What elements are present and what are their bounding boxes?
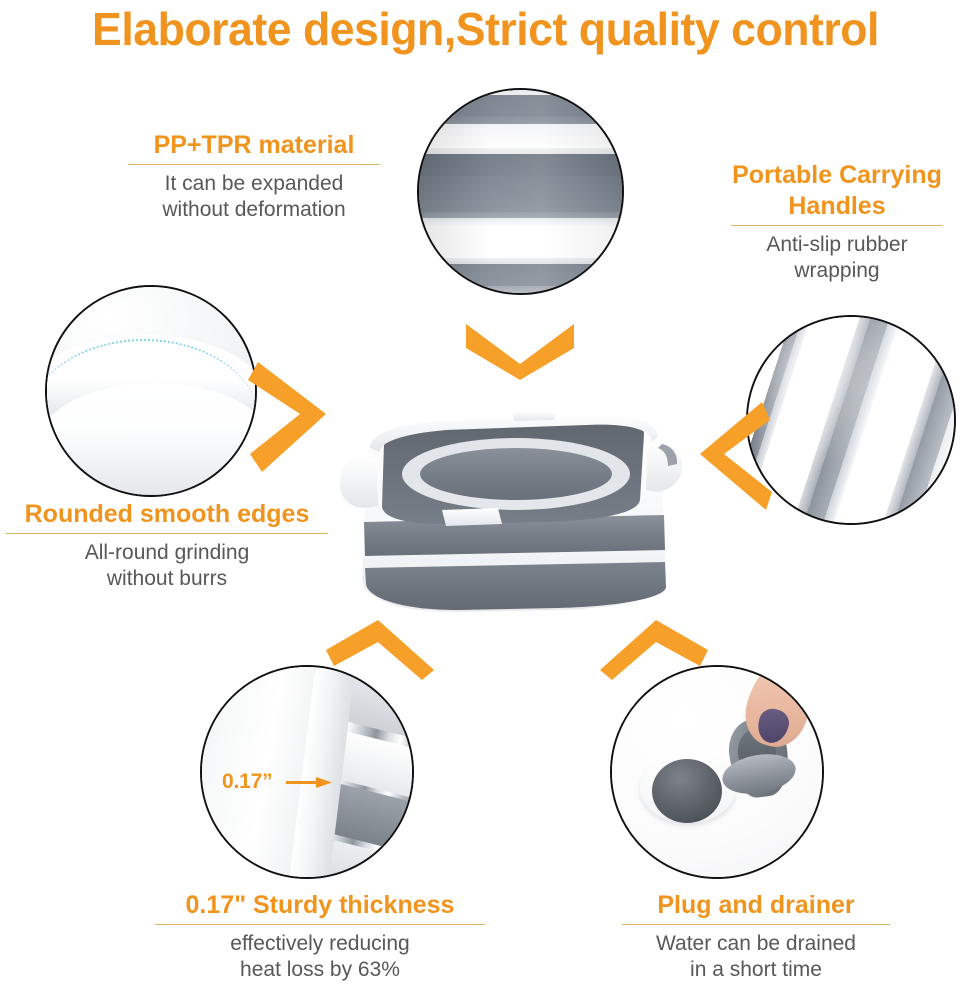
photo-material-closeup: [417, 88, 624, 295]
chevron-right-icon: [248, 358, 332, 476]
feature-handles-title: Portable Carrying Handles: [706, 160, 968, 222]
chevron-left-icon: [694, 400, 772, 512]
feature-edges-title: Rounded smooth edges: [2, 499, 332, 530]
feature-edges: Rounded smooth edges All-round grinding …: [2, 499, 332, 592]
feature-handles-subtitle: Anti-slip rubber wrapping: [706, 232, 968, 284]
feature-plug-rule: [622, 924, 890, 925]
feature-plug: Plug and drainer Water can be drained in…: [606, 890, 906, 983]
product-image-collapsible-basket: [330, 382, 698, 622]
corner-cross-section-image: 0.17”: [202, 667, 412, 877]
striped-basket-wall-image: [419, 90, 622, 293]
thickness-arrow-icon: [286, 777, 332, 788]
feature-material: PP+TPR material It can be expanded witho…: [118, 130, 390, 223]
handle-left: [340, 456, 378, 508]
feature-material-rule: [128, 164, 380, 165]
feature-thickness-rule: [155, 924, 485, 925]
feature-thickness-title: 0.17" Sturdy thickness: [150, 890, 490, 921]
feature-plug-title: Plug and drainer: [606, 890, 906, 921]
basket-inner-floor-center: [420, 448, 612, 500]
feature-handles-rule: [731, 225, 943, 226]
chevron-up-icon-thickness: [322, 614, 438, 680]
feature-material-title: PP+TPR material: [118, 130, 390, 161]
basket-back-tab: [512, 411, 556, 421]
photo-rounded-edge-closeup: [45, 285, 257, 497]
basket-band-lower: [365, 562, 666, 610]
chevron-up-icon-plug: [596, 614, 712, 680]
drain-hole: [652, 759, 722, 823]
photo-plug-closeup: [610, 665, 824, 879]
feature-edges-subtitle: All-round grinding without burrs: [2, 540, 332, 592]
handle-grip-image: [748, 317, 954, 523]
photo-handle-closeup: [746, 315, 956, 525]
infographic-canvas: Elaborate design,Strict quality control …: [0, 0, 971, 989]
chevron-down-icon: [462, 318, 578, 380]
feature-edges-rule: [6, 533, 328, 534]
feature-thickness: 0.17" Sturdy thickness effectively reduc…: [150, 890, 490, 983]
feature-handles: Portable Carrying Handles Anti-slip rubb…: [706, 160, 968, 284]
rounded-rim-image: [47, 287, 255, 495]
photo-thickness-closeup: 0.17”: [200, 665, 414, 879]
feature-thickness-subtitle: effectively reducing heat loss by 63%: [150, 931, 490, 983]
feature-plug-subtitle: Water can be drained in a short time: [606, 931, 906, 983]
drain-plug-image: [612, 667, 822, 877]
page-title: Elaborate design,Strict quality control: [15, 2, 957, 56]
feature-material-subtitle: It can be expanded without deformation: [118, 171, 390, 223]
thickness-callout-label: 0.17”: [222, 770, 272, 794]
basket-front-notch: [442, 508, 502, 526]
